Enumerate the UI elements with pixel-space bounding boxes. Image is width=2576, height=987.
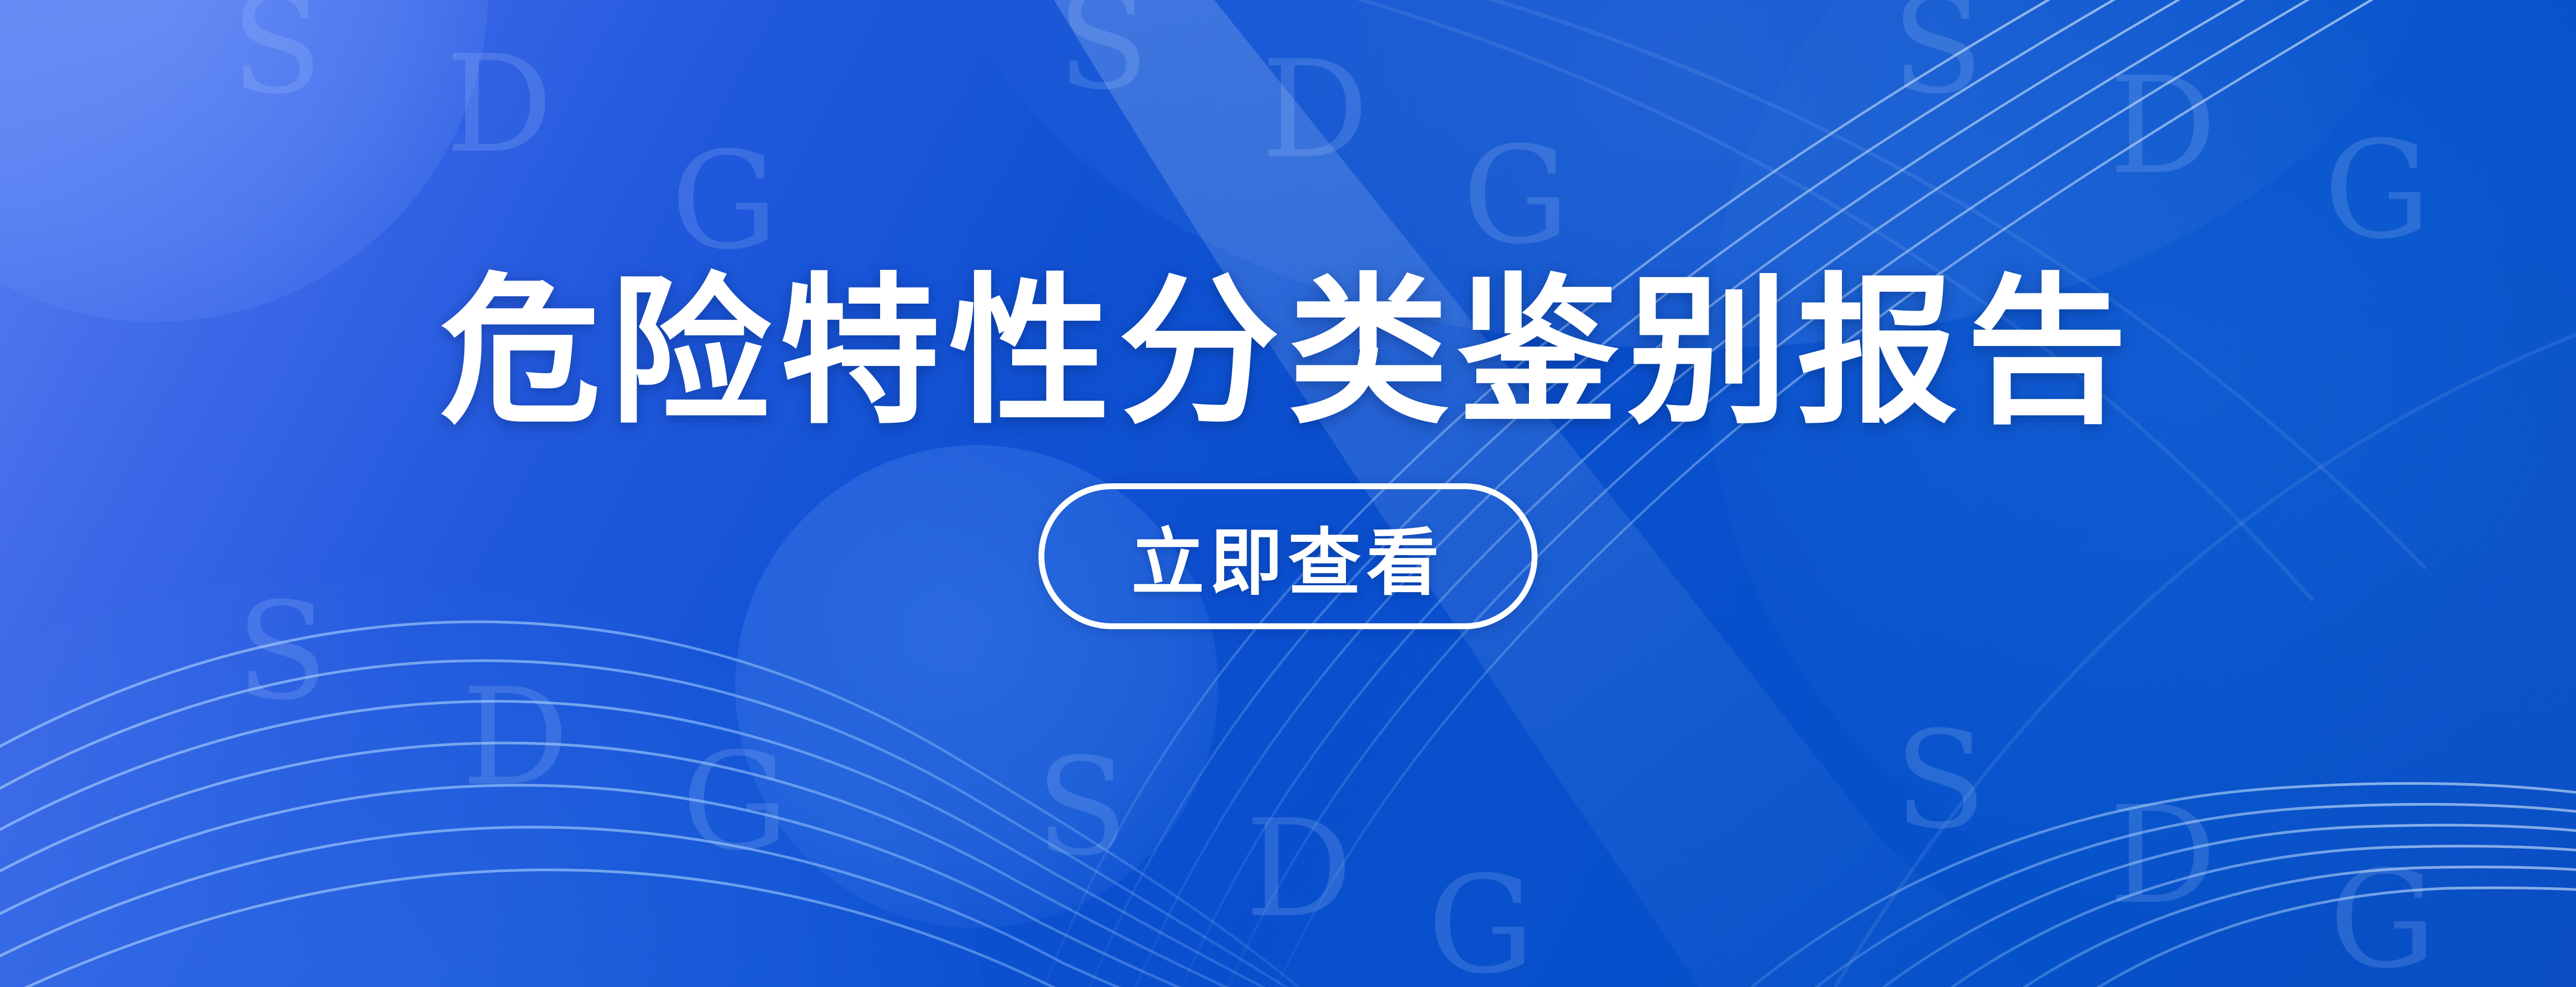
banner-content: 危险特性分类鉴别报告 立即查看 bbox=[0, 0, 2576, 987]
view-now-button[interactable]: 立即查看 bbox=[1038, 483, 1538, 629]
view-now-button-label: 立即查看 bbox=[1131, 504, 1445, 609]
promo-banner: SDGSDGSDGSDGSDGSDG bbox=[0, 0, 2576, 987]
page-title: 危险特性分类鉴别报告 bbox=[440, 266, 2136, 439]
